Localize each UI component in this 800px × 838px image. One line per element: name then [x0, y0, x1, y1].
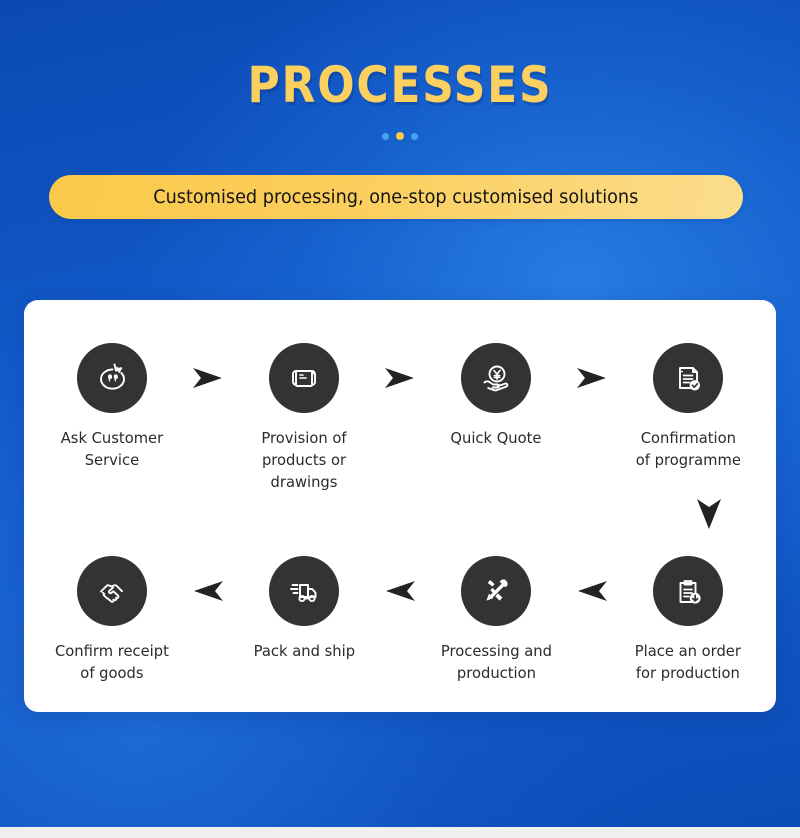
step-pack-and-ship[interactable]: Pack and ship: [230, 556, 378, 662]
step-confirmation-of-programme[interactable]: Confirmation of programme: [614, 343, 762, 471]
step-label: Ask Customer Service: [61, 427, 163, 471]
pencil-ruler-tools-icon: [461, 556, 531, 626]
dot-right-icon: [411, 133, 418, 140]
arrow-right-icon: [570, 365, 614, 391]
dot-center-icon: [396, 132, 404, 140]
step-label: Quick Quote: [450, 427, 541, 449]
arrow-down-icon: [685, 496, 733, 532]
subtitle-banner: Customised processing, one-stop customis…: [49, 175, 743, 219]
step-quick-quote[interactable]: Quick Quote: [422, 343, 570, 449]
step-provision-of-products[interactable]: Provision of products or drawings: [230, 343, 378, 493]
hand-holding-yen-coin-icon: [461, 343, 531, 413]
step-label: Place an order for production: [635, 640, 741, 684]
step-place-an-order-for-production[interactable]: Place an order for production: [614, 556, 762, 684]
arrow-left-icon: [378, 578, 422, 604]
dots-separator: [0, 132, 800, 140]
process-card: Ask Customer Service: [24, 300, 776, 712]
header: PROCESSES: [0, 0, 800, 140]
arrow-left-icon: [186, 578, 230, 604]
dot-left-icon: [382, 133, 389, 140]
step-processing-and-production[interactable]: Processing and production: [422, 556, 570, 684]
arrow-right-icon: [378, 365, 422, 391]
arrow-right-icon: [186, 365, 230, 391]
processes-infographic: PROCESSES Customised processing, one-sto…: [0, 0, 800, 838]
bottom-strip: [0, 827, 800, 838]
document-checklist-check-icon: [653, 343, 723, 413]
step-label: Processing and production: [440, 640, 551, 684]
rolled-blueprint-icon: [269, 343, 339, 413]
delivery-truck-icon: [269, 556, 339, 626]
subtitle-text: Customised processing, one-stop customis…: [153, 186, 638, 208]
step-ask-customer-service[interactable]: Ask Customer Service: [38, 343, 186, 471]
step-label: Confirmation of programme: [635, 427, 740, 471]
page-title: PROCESSES: [48, 0, 752, 110]
process-row-2: Place an order for production: [24, 556, 776, 684]
step-confirm-receipt-of-goods[interactable]: Confirm receipt of goods: [38, 556, 186, 684]
step-label: Pack and ship: [253, 640, 354, 662]
step-label: Provision of products or drawings: [234, 427, 375, 493]
clipboard-download-icon: [653, 556, 723, 626]
arrow-left-icon: [570, 578, 614, 604]
step-label: Confirm receipt of goods: [55, 640, 169, 684]
handshake-icon: [77, 556, 147, 626]
process-row-1: Ask Customer Service: [24, 343, 776, 493]
speech-bubble-quote-icon: [77, 343, 147, 413]
